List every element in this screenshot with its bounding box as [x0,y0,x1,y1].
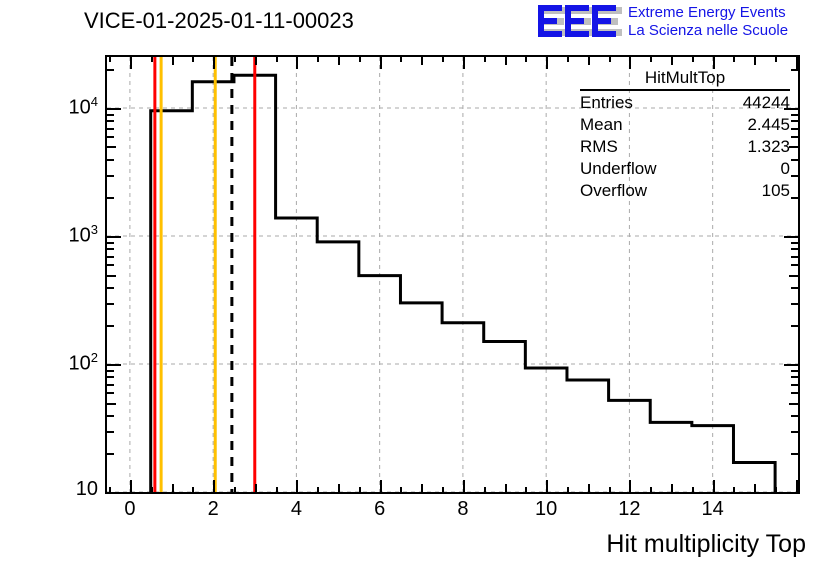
y-tick [107,264,114,266]
y-tick [107,159,114,161]
stats-box: HitMultTop Entries44244Mean2.445RMS1.323… [580,68,790,201]
y-tick [107,136,114,138]
x-tick [338,484,340,492]
y-tick-right [789,146,798,148]
x-tick-top [754,57,756,65]
x-tick-top [733,57,735,62]
x-tick [671,484,673,492]
x-tick-top [109,57,111,62]
x-tick-top [317,57,319,62]
y-tick-right [791,370,798,372]
x-tick-top [567,57,569,62]
y-tick [107,275,116,277]
y-tick-right [791,415,798,417]
x-tick-top [775,57,777,62]
stats-row-value: 1.323 [747,137,790,157]
eee-logo-line1: Extreme Energy Events [628,4,788,22]
stats-title: HitMultTop [580,68,790,91]
y-tick [107,114,114,116]
x-tick-top [380,57,382,69]
y-tick [107,175,114,177]
stats-row-value: 2.445 [747,115,790,135]
y-tick-right [791,376,798,378]
x-tick-top [338,57,340,65]
y-tick-label: 103 [40,222,98,248]
y-tick-right [791,114,798,116]
y-tick-right [789,403,798,405]
x-tick [733,487,735,492]
eee-logo-text: Extreme Energy Events La Scienza nelle S… [628,4,788,40]
x-tick-top [172,57,174,65]
stats-row-key: Mean [580,115,623,135]
x-tick [296,480,298,492]
y-tick [107,287,114,289]
y-tick [107,392,114,394]
y-tick [107,69,114,71]
y-tick [107,431,114,433]
eee-logo: Extreme Energy Events La Scienza nelle S… [536,2,832,44]
x-tick-top [796,57,798,69]
x-tick [525,487,527,492]
x-tick [380,480,382,492]
x-tick [650,487,652,492]
x-tick-top [213,57,215,69]
y-tick [107,415,114,417]
x-tick-label: 6 [360,498,400,521]
eee-logo-line2: La Scienza nelle Scuole [628,22,788,40]
x-tick-top [650,57,652,62]
y-tick-right [791,392,798,394]
x-tick-top [421,57,423,65]
stats-row: RMS1.323 [580,135,790,157]
y-tick [107,376,114,378]
x-tick-label: 10 [526,498,566,521]
stats-row: Entries44244 [580,91,790,113]
x-tick [609,487,611,492]
stats-row-value: 0 [781,159,790,179]
plot-canvas: VICE-01-2025-01-11-00023 [0,0,836,572]
stats-row-value: 105 [762,181,790,201]
x-tick-top [255,57,257,65]
x-tick-label: 14 [693,498,733,521]
x-tick-top [505,57,507,65]
stats-row: Underflow0 [580,157,790,179]
y-tick [107,197,114,199]
x-tick-label: 0 [110,498,150,521]
x-tick-top [692,57,694,62]
y-tick [107,403,116,405]
y-tick [107,370,114,372]
x-axis-title: Hit multiplicity Top [606,530,806,559]
x-tick-top [484,57,486,62]
y-tick [107,303,114,305]
y-tick [107,453,114,455]
y-tick-right [791,453,798,455]
x-tick-top [609,57,611,62]
x-tick [255,484,257,492]
x-tick [713,480,715,492]
y-tick-right [791,256,798,258]
x-tick-label: 8 [443,498,483,521]
x-tick [775,487,777,492]
x-tick [359,487,361,492]
y-tick-right [791,128,798,130]
x-tick-top [234,57,236,62]
x-tick [213,480,215,492]
page-title: VICE-01-2025-01-11-00023 [84,8,354,34]
x-tick-top [276,57,278,62]
y-tick-right [791,175,798,177]
x-tick [317,487,319,492]
y-tick [107,128,114,130]
y-tick-right [791,325,798,327]
x-tick-top [151,57,153,62]
x-tick [421,484,423,492]
y-tick-right [791,136,798,138]
stats-row-key: Overflow [580,181,647,201]
eee-mark-icon [536,4,622,40]
y-tick-right [791,287,798,289]
x-tick-top [588,57,590,65]
x-tick [629,480,631,492]
y-tick-label: 102 [40,350,98,376]
stats-row-key: RMS [580,137,618,157]
y-tick [107,236,121,238]
y-tick [107,120,114,122]
stats-row: Overflow105 [580,179,790,201]
y-tick-right [791,431,798,433]
x-tick [234,487,236,492]
y-tick-right [784,492,798,494]
x-tick [151,487,153,492]
stats-row-key: Underflow [580,159,657,179]
x-tick [588,484,590,492]
y-tick-right [791,242,798,244]
x-tick [172,484,174,492]
x-tick-top [130,57,132,69]
y-tick-right [791,248,798,250]
x-tick-label: 2 [193,498,233,521]
x-tick [463,480,465,492]
y-tick [107,248,114,250]
stats-row: Mean2.445 [580,113,790,135]
y-tick [107,146,116,148]
y-tick-right [789,275,798,277]
stats-row-key: Entries [580,93,633,113]
x-tick [796,480,798,492]
x-tick-label: 12 [609,498,649,521]
y-tick [107,492,121,494]
x-tick-top [442,57,444,62]
y-tick-label: 104 [40,94,98,120]
y-tick [107,242,114,244]
x-tick-top [546,57,548,69]
y-tick-right [791,120,798,122]
x-tick [546,480,548,492]
x-tick-label: 4 [276,498,316,521]
y-tick [107,108,121,110]
y-tick [107,364,121,366]
y-tick-right [791,197,798,199]
y-tick-right [784,236,798,238]
y-tick-right [791,384,798,386]
y-tick-label: 10 [40,478,98,501]
x-tick [192,487,194,492]
y-tick-right [784,364,798,366]
x-tick-top [192,57,194,62]
x-tick-top [671,57,673,65]
x-tick-top [525,57,527,62]
x-tick-top [463,57,465,69]
y-tick-right [791,69,798,71]
y-tick [107,256,114,258]
x-tick [567,487,569,492]
x-tick [442,487,444,492]
x-tick [505,484,507,492]
x-tick-top [400,57,402,62]
y-tick-right [791,264,798,266]
y-tick-right [791,159,798,161]
y-tick [107,325,114,327]
marker-lines [155,57,255,492]
x-tick [692,487,694,492]
x-tick-top [296,57,298,69]
y-tick-right [791,303,798,305]
x-tick [130,480,132,492]
x-tick-top [359,57,361,62]
x-tick [400,487,402,492]
x-tick [754,484,756,492]
stats-row-value: 44244 [743,93,790,113]
x-tick [484,487,486,492]
y-tick [107,384,114,386]
x-tick [276,487,278,492]
